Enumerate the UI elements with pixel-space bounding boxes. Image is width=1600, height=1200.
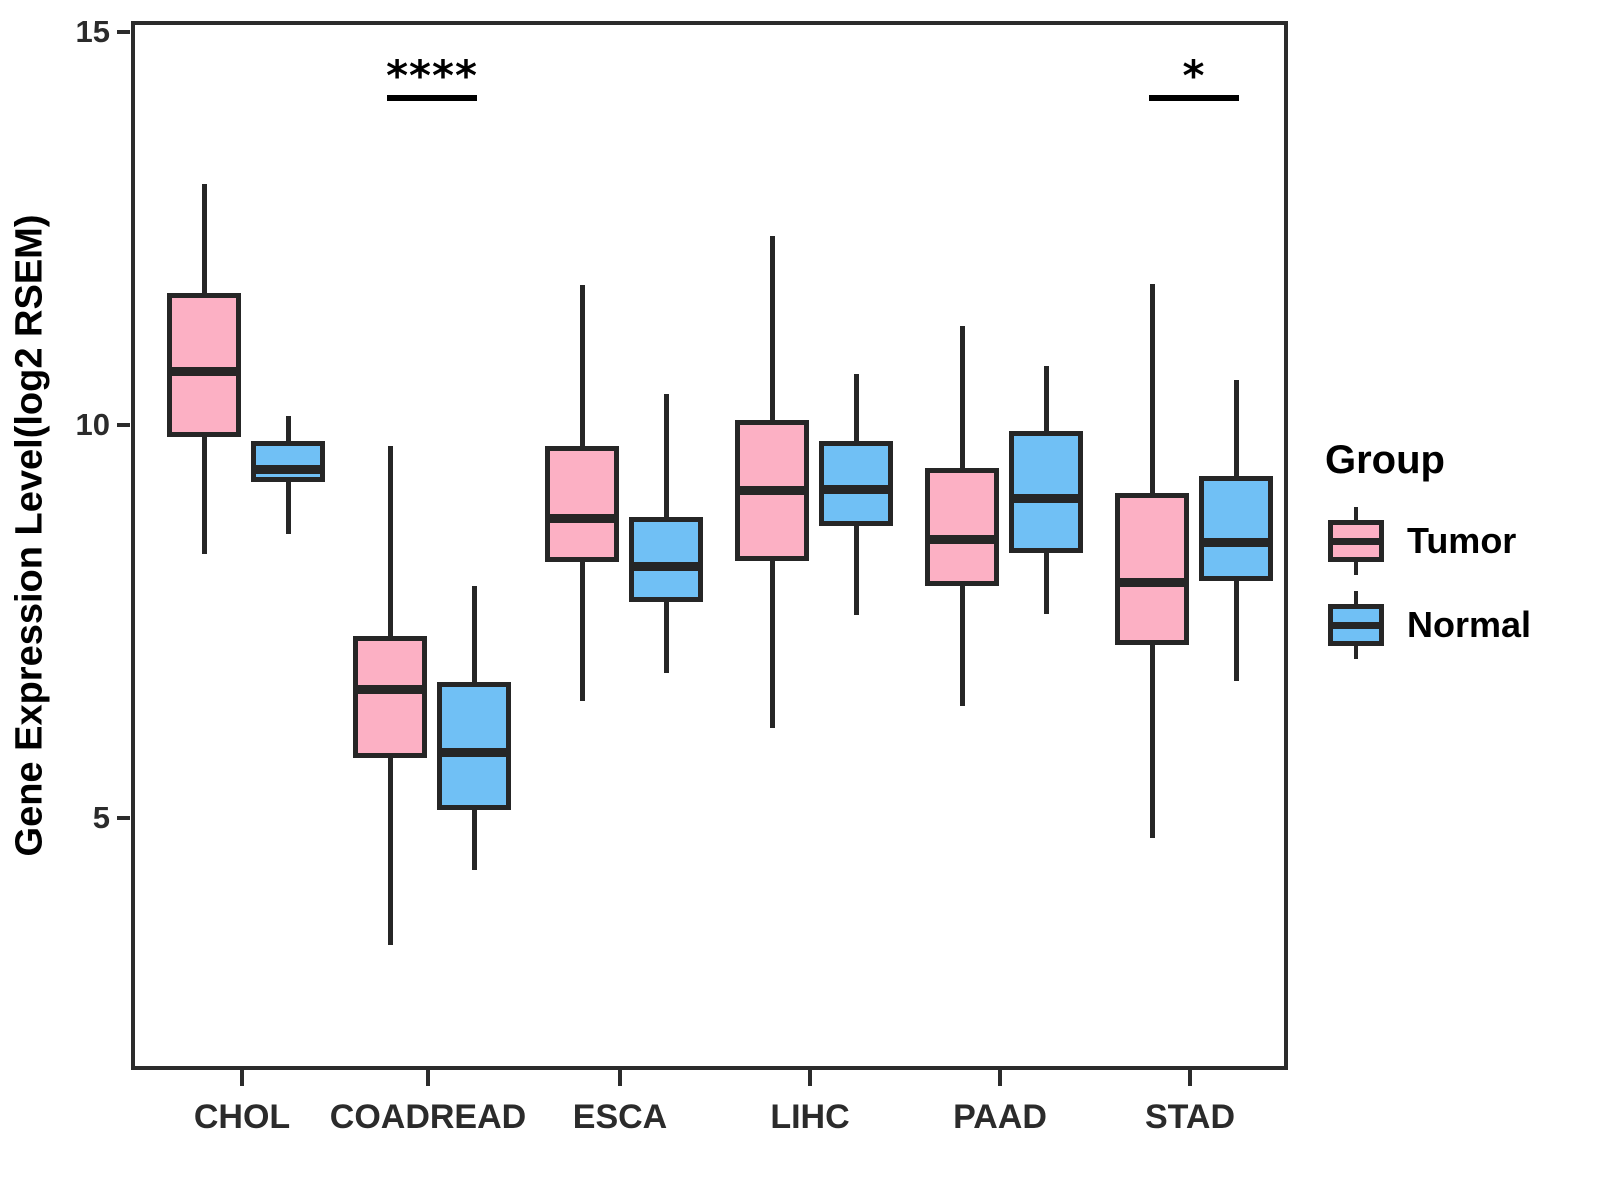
- legend-median: [1328, 622, 1384, 629]
- x-tick-label-chol: CHOL: [194, 1098, 290, 1137]
- legend-label: Tumor: [1407, 520, 1516, 562]
- plot-panel: *****: [131, 21, 1288, 1070]
- legend-item-normal[interactable]: Normal: [1325, 586, 1585, 664]
- chart-root: Gene Expression Level(log2 RSEM) 15105 *…: [0, 0, 1600, 1200]
- boxplot-normal-stad: [135, 25, 1284, 1066]
- x-tick-label-coadread: COADREAD: [330, 1098, 526, 1137]
- y-tick-mark: [117, 30, 130, 34]
- legend-key-normal: [1325, 589, 1387, 661]
- y-axis-title-text: Gene Expression Level(log2 RSEM): [9, 214, 52, 856]
- legend: Group TumorNormal: [1325, 440, 1585, 670]
- y-tick-mark: [117, 816, 130, 820]
- significance-label: ****: [386, 55, 478, 97]
- x-tick-mark: [426, 1070, 430, 1086]
- legend-items: TumorNormal: [1325, 502, 1585, 664]
- y-tick-mark: [117, 423, 130, 427]
- legend-whisker-bottom: [1354, 645, 1358, 659]
- x-tick-label-stad: STAD: [1145, 1098, 1235, 1137]
- y-tick-label: 5: [20, 800, 110, 836]
- legend-whisker-top: [1354, 591, 1358, 605]
- x-tick-mark: [618, 1070, 622, 1086]
- plot-area: *****: [135, 25, 1284, 1066]
- legend-item-tumor[interactable]: Tumor: [1325, 502, 1585, 580]
- significance-label: *: [1183, 55, 1206, 97]
- legend-median: [1328, 538, 1384, 545]
- legend-whisker-bottom: [1354, 561, 1358, 575]
- legend-label: Normal: [1407, 604, 1531, 646]
- legend-key-tumor: [1325, 505, 1387, 577]
- x-tick-label-esca: ESCA: [573, 1098, 667, 1137]
- legend-whisker-top: [1354, 507, 1358, 521]
- y-tick-label: 15: [20, 14, 110, 50]
- x-tick-mark: [1188, 1070, 1192, 1086]
- x-tick-mark: [808, 1070, 812, 1086]
- y-tick-label: 10: [20, 407, 110, 443]
- x-tick-label-paad: PAAD: [953, 1098, 1047, 1137]
- x-tick-mark: [240, 1070, 244, 1086]
- y-axis-title: Gene Expression Level(log2 RSEM): [0, 0, 60, 1070]
- x-tick-mark: [998, 1070, 1002, 1086]
- box-rect: [1199, 476, 1273, 581]
- median-line: [1199, 538, 1273, 547]
- legend-title: Group: [1325, 440, 1585, 480]
- x-tick-label-lihc: LIHC: [770, 1098, 849, 1137]
